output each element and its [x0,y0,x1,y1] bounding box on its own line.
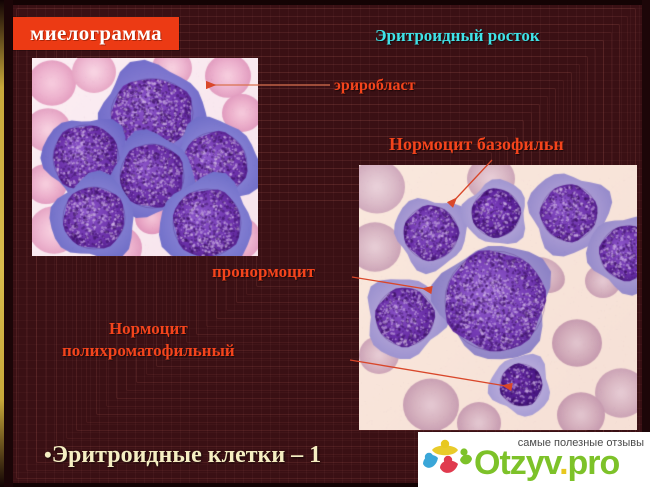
label-normocyte-polychromatophilic: Нормоцит полихроматофильный [62,318,235,362]
label-pronormocyte: пронормоцит [212,262,315,282]
watermark-brand-part2: pro [568,444,620,482]
label-erythroblast: эриробласт [334,77,415,95]
slide-accent-bar-left [0,0,4,487]
presentation-slide: миелограмма Эритроидный росток эрироблас… [0,0,650,487]
label-normocyte-poly-line1: Нормоцит [109,319,188,338]
slide-edge-left-dark [4,0,13,487]
watermark-brand-part1: Otzyv [474,444,559,482]
label-erythroid-sprout: Эритроидный росток [375,26,540,46]
slide-edge-right-dark [642,0,650,487]
watermark-brand: Otzyv.pro [474,444,619,483]
label-normocyte-basophilic: Нормоцит базофильн [389,134,564,155]
bullet-text: Эритроидные клетки – 1 [52,442,321,468]
slide-bullet-line: •Эритроидные клетки – 1 [44,442,321,469]
micrograph-left [32,58,258,256]
micrograph-right [359,165,637,430]
slide-title-text: миелограмма [30,21,162,46]
watermark-banner: самые полезные отзывы Otzyv.pro [418,432,650,487]
slide-title-chip: миелограмма [13,17,179,50]
otzyv-logo-icon [420,438,472,484]
bullet-glyph: • [44,442,52,467]
label-normocyte-poly-line2: полихроматофильный [62,340,235,362]
slide-edge-top [0,0,650,5]
watermark-brand-dot: . [559,444,567,482]
